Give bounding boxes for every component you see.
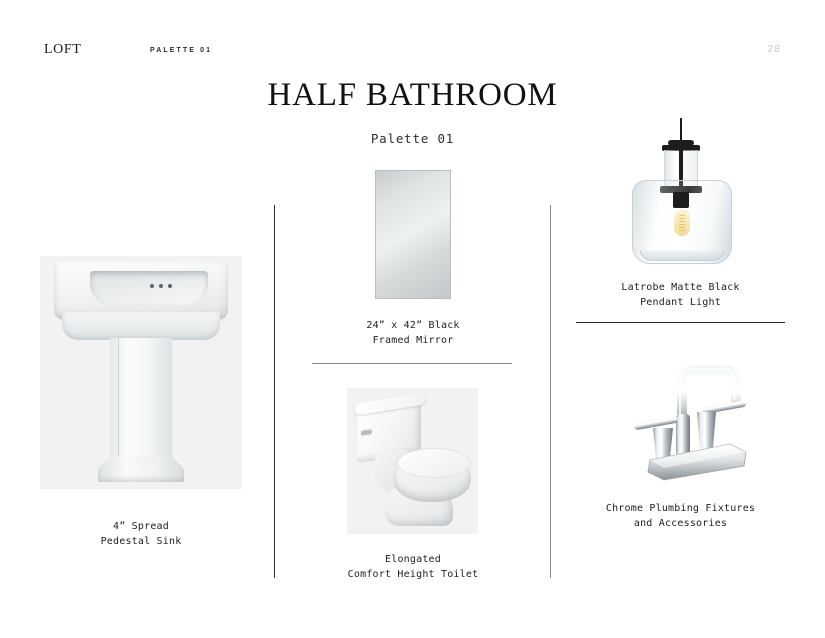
horizontal-divider-middle-column — [312, 363, 512, 364]
sink-apron-shape — [62, 312, 220, 340]
caption-pedestal-sink: 4” Spread Pedestal Sink — [40, 519, 242, 549]
sink-pedestal-column-shape — [110, 338, 172, 466]
slide-canvas: LOFT PALETTE 01 28 HALF BATHROOM Palette… — [0, 0, 825, 638]
vertical-divider-right — [550, 205, 551, 578]
product-image-pendant-light — [618, 118, 746, 270]
vertical-divider-left — [274, 205, 275, 578]
caption-framed-mirror: 24” x 42” Black Framed Mirror — [313, 318, 513, 348]
horizontal-divider-right-column — [576, 322, 785, 323]
page-title: HALF BATHROOM — [0, 77, 825, 114]
chrome-faucet-illustration — [620, 348, 770, 488]
product-image-framed-mirror — [368, 163, 458, 306]
pendant-globe-base-shape — [640, 250, 724, 261]
palette-tag-label: PALETTE 01 — [150, 47, 212, 54]
pendant-cord-shape — [680, 118, 682, 142]
brand-label: LOFT — [44, 42, 81, 58]
sink-bowl-shape — [90, 271, 208, 305]
caption-pendant-light: Latrobe Matte Black Pendant Light — [576, 280, 785, 310]
caption-plumbing-fixtures: Chrome Plumbing Fixtures and Accessories — [576, 501, 785, 531]
faucet-right-handle-body — [697, 412, 716, 451]
pendant-socket-shape — [673, 192, 689, 208]
sink-faucet-holes — [150, 284, 172, 288]
caption-toilet: Elongated Comfort Height Toilet — [313, 552, 513, 582]
faucet-column-shape — [676, 414, 690, 456]
product-image-chrome-faucet — [620, 348, 770, 488]
pendant-filament-shape — [679, 215, 685, 231]
product-image-toilet — [347, 388, 478, 534]
page-number: 28 — [767, 44, 781, 55]
product-image-pedestal-sink — [40, 256, 242, 489]
sink-pedestal-foot-shape — [98, 456, 184, 482]
mirror-glass-surface — [375, 170, 451, 299]
toilet-seat-shape — [397, 448, 471, 478]
